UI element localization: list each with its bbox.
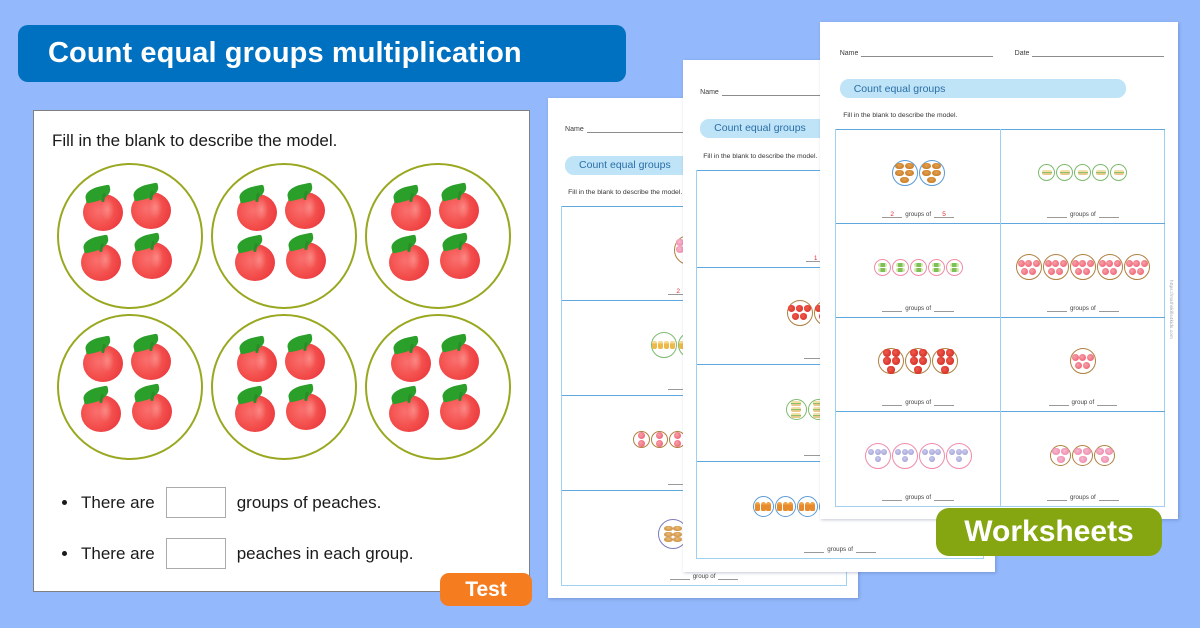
cup-icon bbox=[1079, 456, 1087, 463]
berry-icon bbox=[1072, 354, 1079, 361]
answer-blank-right[interactable] bbox=[718, 573, 738, 580]
mouse-icon bbox=[935, 449, 941, 455]
answer-label: group of bbox=[693, 573, 716, 580]
item-group-circle bbox=[1092, 164, 1109, 181]
answer-label: groups of bbox=[1070, 305, 1096, 312]
mouse-icon bbox=[868, 449, 874, 455]
mouse-icon bbox=[929, 456, 935, 462]
item-group-circle bbox=[1074, 164, 1091, 181]
pepper-icon bbox=[919, 349, 927, 357]
peach-icon bbox=[237, 187, 281, 231]
pie-icon bbox=[927, 177, 936, 183]
bottle-icon bbox=[761, 502, 766, 511]
cookie-icon bbox=[664, 526, 673, 531]
item-group-circle bbox=[919, 160, 945, 186]
berry-icon bbox=[1018, 260, 1025, 267]
worksheets-badge[interactable]: Worksheets bbox=[936, 508, 1162, 556]
pie-icon bbox=[905, 163, 914, 169]
cookie-icon bbox=[664, 537, 673, 542]
candy-icon bbox=[950, 268, 959, 272]
item-group-circle bbox=[1050, 445, 1071, 466]
pie-icon bbox=[905, 170, 914, 176]
answer-label: groups of bbox=[905, 494, 931, 501]
sheet-inner: Name Date Count equal groups Fill in the… bbox=[820, 22, 1178, 519]
pepper-icon bbox=[910, 349, 918, 357]
test-badge[interactable]: Test bbox=[440, 573, 532, 606]
mouse-icon bbox=[956, 456, 962, 462]
problem-answer-line: groups of bbox=[882, 494, 954, 503]
peach-icon bbox=[237, 338, 281, 382]
problem-illustration bbox=[1003, 417, 1162, 493]
answer-blank-left[interactable] bbox=[1047, 305, 1067, 312]
cup-icon bbox=[1074, 448, 1082, 455]
problem-illustration bbox=[838, 323, 998, 399]
test-badge-label: Test bbox=[465, 578, 507, 602]
cup-icon bbox=[1057, 456, 1065, 463]
worksheet-problem-cell: groups of bbox=[1001, 129, 1164, 223]
answer-blank-left[interactable] bbox=[804, 546, 824, 553]
sand-icon bbox=[1060, 170, 1070, 175]
item-group-circle bbox=[874, 259, 891, 276]
pepper-icon bbox=[937, 349, 945, 357]
worksheet-grid: 2groups of5groups ofgroups ofgroups of g… bbox=[835, 129, 1165, 507]
bottle-icon bbox=[777, 502, 782, 511]
pepper-icon bbox=[941, 366, 949, 374]
pie-icon bbox=[932, 163, 941, 169]
answer-blank-right[interactable] bbox=[1099, 305, 1119, 312]
item-group-circle bbox=[892, 259, 909, 276]
answer-suffix: peaches in each group. bbox=[237, 544, 414, 564]
item-group-circle bbox=[928, 259, 945, 276]
cookie-icon bbox=[673, 526, 682, 531]
mouse-icon bbox=[949, 449, 955, 455]
pepper-icon bbox=[883, 357, 891, 365]
peach-icon bbox=[235, 388, 279, 432]
item-group-circle bbox=[1097, 254, 1123, 280]
item-group-circle bbox=[1110, 164, 1127, 181]
bullet-icon bbox=[62, 500, 67, 505]
name-label: Name bbox=[565, 126, 584, 133]
peach-icon bbox=[286, 235, 330, 279]
item-group-circle bbox=[753, 496, 774, 517]
candy-icon bbox=[914, 263, 923, 267]
berry-icon bbox=[674, 440, 681, 447]
item-group-circle bbox=[1056, 164, 1073, 181]
problem-answer-line: groups of bbox=[882, 399, 954, 408]
item-group-circle bbox=[1072, 445, 1093, 466]
peach-icon bbox=[235, 237, 279, 281]
answer-blank-left[interactable] bbox=[670, 573, 690, 580]
candy-icon bbox=[950, 263, 959, 267]
answer-label: groups of bbox=[1070, 211, 1096, 218]
berry-icon bbox=[1129, 268, 1136, 275]
item-group-circle bbox=[787, 300, 813, 326]
mouse-icon bbox=[902, 456, 908, 462]
pepper-icon bbox=[914, 366, 922, 374]
berry-icon bbox=[1079, 354, 1086, 361]
answer-input-groups[interactable] bbox=[166, 487, 226, 518]
answer-blank-right[interactable] bbox=[934, 494, 954, 501]
cup-icon bbox=[1105, 448, 1113, 455]
answer-blank-right[interactable] bbox=[856, 546, 876, 553]
berry-icon bbox=[1021, 268, 1028, 275]
mouse-icon bbox=[922, 449, 928, 455]
group-circle bbox=[211, 314, 357, 460]
worksheet-column: groups ofgroups ofgroup ofgroups of bbox=[1000, 129, 1164, 506]
pie-icon bbox=[895, 163, 904, 169]
berry-icon bbox=[1099, 260, 1106, 267]
berry-icon bbox=[1126, 260, 1133, 267]
pie-icon bbox=[932, 170, 941, 176]
peach-icon bbox=[81, 237, 125, 281]
sand-icon bbox=[791, 413, 801, 418]
peach-icon bbox=[439, 185, 483, 229]
item-group-circle bbox=[651, 431, 668, 448]
pie-icon bbox=[895, 170, 904, 176]
answer-blank-right[interactable] bbox=[1097, 399, 1117, 406]
item-group-circle bbox=[786, 399, 807, 420]
pie-icon bbox=[922, 163, 931, 169]
worksheet-prompt: Fill in the blank to describe the model. bbox=[568, 189, 682, 196]
sand-icon bbox=[1096, 170, 1106, 175]
berry-icon bbox=[1075, 362, 1082, 369]
cookie-icon bbox=[673, 537, 682, 542]
apple-icon bbox=[800, 313, 807, 320]
item-group-circle bbox=[878, 348, 904, 374]
berry-icon bbox=[1141, 260, 1148, 267]
answer-prefix: There are bbox=[81, 493, 155, 513]
berry-icon bbox=[1114, 260, 1121, 267]
problem-answer-line: groups of bbox=[1047, 305, 1119, 314]
jar-icon bbox=[652, 341, 657, 349]
peach-icon bbox=[83, 187, 127, 231]
peach-icon bbox=[391, 338, 435, 382]
worksheet-watermark: https://mathskills4kids.com bbox=[1169, 280, 1174, 339]
apple-icon bbox=[792, 313, 799, 320]
answer-blank-left[interactable]: 2 bbox=[882, 211, 902, 218]
answer-row: There are peaches in each group. bbox=[62, 538, 502, 569]
group-circle bbox=[57, 163, 203, 309]
worksheet-header-text: Count equal groups bbox=[714, 122, 806, 134]
mouse-icon bbox=[895, 449, 901, 455]
berry-icon bbox=[638, 440, 645, 447]
berry-icon bbox=[1033, 260, 1040, 267]
name-line[interactable] bbox=[861, 48, 992, 57]
title-text: Count equal groups multiplication bbox=[48, 37, 522, 70]
apple-icon bbox=[788, 305, 795, 312]
peach-icon bbox=[131, 185, 175, 229]
answer-label: groups of bbox=[1070, 494, 1096, 501]
pepper-icon bbox=[919, 357, 927, 365]
mouse-icon bbox=[962, 449, 968, 455]
candy-icon bbox=[932, 263, 941, 267]
pepper-icon bbox=[892, 357, 900, 365]
peach-icon bbox=[83, 338, 127, 382]
sample-worksheet-card: Fill in the blank to describe the model.… bbox=[33, 110, 530, 592]
cookie-icon bbox=[673, 532, 682, 537]
problem-answer-line: group of bbox=[670, 573, 739, 582]
pepper-icon bbox=[910, 357, 918, 365]
jar-icon bbox=[670, 341, 675, 349]
peach-icon bbox=[389, 388, 433, 432]
berry-icon bbox=[1106, 260, 1113, 267]
sample-prompt: Fill in the blank to describe the model. bbox=[52, 131, 337, 151]
pie-icon bbox=[922, 170, 931, 176]
answer-prefix: There are bbox=[81, 544, 155, 564]
berry-icon bbox=[1079, 260, 1086, 267]
item-group-circle bbox=[946, 259, 963, 276]
pepper-icon bbox=[892, 349, 900, 357]
berry-icon bbox=[638, 432, 645, 439]
peach-icon bbox=[389, 237, 433, 281]
candy-icon bbox=[896, 268, 905, 272]
equal-groups-grid bbox=[57, 163, 512, 460]
peach-icon bbox=[391, 187, 435, 231]
berry-icon bbox=[674, 432, 681, 439]
cup-icon bbox=[1052, 448, 1060, 455]
berry-icon bbox=[1025, 260, 1032, 267]
worksheets-badge-label: Worksheets bbox=[964, 515, 1134, 549]
problem-answer-line: 2groups of5 bbox=[882, 211, 954, 220]
berry-icon bbox=[656, 432, 663, 439]
sand-icon bbox=[1078, 170, 1088, 175]
item-group-circle bbox=[892, 160, 918, 186]
worksheet-problem-cell: groups of bbox=[836, 317, 1000, 411]
apple-icon bbox=[804, 305, 811, 312]
worksheet-problem-cell: groups of bbox=[836, 411, 1000, 505]
berry-icon bbox=[1102, 268, 1109, 275]
peach-icon bbox=[132, 386, 176, 430]
answer-blank-left[interactable] bbox=[882, 305, 902, 312]
date-label: Date bbox=[1015, 50, 1030, 57]
bottle-icon bbox=[810, 502, 815, 511]
answer-input-per-group[interactable] bbox=[166, 538, 226, 569]
peach-icon bbox=[132, 235, 176, 279]
group-circle bbox=[211, 163, 357, 309]
item-group-circle bbox=[910, 259, 927, 276]
answer-blank-right[interactable]: 5 bbox=[934, 211, 954, 218]
answer-blank-left[interactable] bbox=[882, 399, 902, 406]
pepper-icon bbox=[946, 349, 954, 357]
answer-label: group of bbox=[1072, 399, 1095, 406]
worksheet-header-text: Count equal groups bbox=[854, 83, 946, 95]
candy-icon bbox=[914, 268, 923, 272]
sand-icon bbox=[1042, 170, 1052, 175]
item-group-circle bbox=[1016, 254, 1042, 280]
worksheet-problem-cell: groups of bbox=[1001, 223, 1164, 317]
berry-icon bbox=[1110, 268, 1117, 275]
bottle-icon bbox=[799, 502, 804, 511]
candy-icon bbox=[932, 268, 941, 272]
group-circle bbox=[365, 163, 511, 309]
cup-icon bbox=[1101, 456, 1109, 463]
bottle-icon bbox=[755, 502, 760, 511]
problem-illustration bbox=[838, 417, 998, 493]
problem-illustration bbox=[838, 229, 998, 305]
poster-stage: Count equal groups multiplication Name C… bbox=[0, 0, 1200, 628]
peach-icon bbox=[285, 185, 329, 229]
bottle-icon bbox=[788, 502, 793, 511]
berry-icon bbox=[1133, 260, 1140, 267]
item-group-circle bbox=[919, 443, 945, 469]
item-group-circle bbox=[865, 443, 891, 469]
answer-blank-right[interactable] bbox=[934, 305, 954, 312]
berry-icon bbox=[656, 440, 663, 447]
pepper-icon bbox=[883, 349, 891, 357]
cup-icon bbox=[1096, 448, 1104, 455]
answer-blank-right[interactable] bbox=[934, 399, 954, 406]
title-banner: Count equal groups multiplication bbox=[18, 25, 626, 82]
berry-icon bbox=[1060, 260, 1067, 267]
berry-icon bbox=[1083, 268, 1090, 275]
worksheet-sheet-front[interactable]: Name Date Count equal groups Fill in the… bbox=[820, 22, 1178, 519]
worksheet-prompt: Fill in the blank to describe the model. bbox=[843, 112, 957, 119]
name-label: Name bbox=[840, 50, 859, 57]
answer-label: groups of bbox=[905, 211, 931, 218]
mouse-icon bbox=[956, 449, 962, 455]
peach-icon bbox=[285, 336, 329, 380]
berry-icon bbox=[1052, 260, 1059, 267]
pie-icon bbox=[900, 177, 909, 183]
peach-icon bbox=[440, 386, 484, 430]
item-group-circle bbox=[1094, 445, 1115, 466]
item-group-circle bbox=[633, 431, 650, 448]
answer-label: groups of bbox=[905, 305, 931, 312]
item-group-circle bbox=[905, 348, 931, 374]
problem-answer-line: groups of bbox=[1047, 494, 1119, 503]
item-group-circle bbox=[892, 443, 918, 469]
bullet-icon bbox=[62, 551, 67, 556]
item-group-circle bbox=[932, 348, 958, 374]
problem-answer-line: groups of bbox=[1047, 211, 1119, 220]
answer-blank-left[interactable] bbox=[1047, 494, 1067, 501]
mouse-icon bbox=[908, 449, 914, 455]
group-circle bbox=[365, 314, 511, 460]
candy-icon bbox=[896, 263, 905, 267]
berry-icon bbox=[1072, 260, 1079, 267]
mouse-icon bbox=[881, 449, 887, 455]
answer-blank-left[interactable] bbox=[1049, 399, 1069, 406]
answer-blank-left[interactable] bbox=[1047, 211, 1067, 218]
item-group-circle bbox=[946, 443, 972, 469]
name-label: Name bbox=[700, 89, 719, 96]
berry-icon bbox=[1029, 268, 1036, 275]
bottle-icon bbox=[783, 502, 788, 511]
item-group-circle bbox=[1124, 254, 1150, 280]
mouse-icon bbox=[875, 449, 881, 455]
berry-icon bbox=[1083, 362, 1090, 369]
item-group-circle bbox=[651, 332, 677, 358]
pepper-icon bbox=[937, 357, 945, 365]
bottle-icon bbox=[805, 502, 810, 511]
apple-icon bbox=[796, 305, 803, 312]
peach-icon bbox=[286, 386, 330, 430]
problem-illustration bbox=[1003, 323, 1162, 399]
berry-icon bbox=[1048, 268, 1055, 275]
problem-answer-line: groups of bbox=[882, 305, 954, 314]
pepper-icon bbox=[946, 357, 954, 365]
candy-icon bbox=[878, 268, 887, 272]
berry-icon bbox=[1056, 268, 1063, 275]
answer-row: There are groups of peaches. bbox=[62, 487, 502, 518]
answer-suffix: groups of peaches. bbox=[237, 493, 382, 513]
berry-icon bbox=[1045, 260, 1052, 267]
answer-label: groups of bbox=[827, 546, 853, 553]
jar-icon bbox=[664, 341, 669, 349]
cookie-icon bbox=[664, 532, 673, 537]
peach-icon bbox=[81, 388, 125, 432]
item-group-circle bbox=[1038, 164, 1055, 181]
problem-answer-line: groups of bbox=[804, 546, 876, 555]
berry-icon bbox=[1087, 354, 1094, 361]
answer-list: There are groups of peaches. There are p… bbox=[62, 487, 502, 569]
group-circle bbox=[57, 314, 203, 460]
answer-blank-right[interactable] bbox=[1099, 494, 1119, 501]
name-date-row: Name Date bbox=[840, 48, 1164, 57]
cup-icon bbox=[1083, 448, 1091, 455]
problem-answer-line: group of bbox=[1049, 399, 1118, 408]
answer-label: groups of bbox=[905, 399, 931, 406]
pepper-icon bbox=[887, 366, 895, 374]
mouse-icon bbox=[875, 456, 881, 462]
answer-blank-left[interactable] bbox=[882, 494, 902, 501]
answer-blank-right[interactable] bbox=[1099, 211, 1119, 218]
peach-icon bbox=[131, 336, 175, 380]
worksheet-prompt: Fill in the blank to describe the model. bbox=[703, 153, 817, 160]
item-group-circle bbox=[1043, 254, 1069, 280]
jar-icon bbox=[658, 341, 663, 349]
candy-icon bbox=[878, 263, 887, 267]
worksheet-header-text: Count equal groups bbox=[579, 159, 671, 171]
problem-illustration bbox=[838, 135, 998, 211]
mouse-icon bbox=[929, 449, 935, 455]
berry-icon bbox=[1137, 268, 1144, 275]
item-group-circle bbox=[775, 496, 796, 517]
peach-icon bbox=[440, 235, 484, 279]
problem-illustration bbox=[1003, 229, 1162, 305]
item-group-circle bbox=[1070, 348, 1096, 374]
berry-icon bbox=[1075, 268, 1082, 275]
problem-illustration bbox=[1003, 135, 1162, 211]
peach-icon bbox=[439, 336, 483, 380]
date-line[interactable] bbox=[1032, 48, 1163, 57]
worksheet-problem-cell: groups of bbox=[836, 223, 1000, 317]
sand-icon bbox=[1114, 170, 1124, 175]
berry-icon bbox=[1087, 260, 1094, 267]
bottle-icon bbox=[766, 502, 771, 511]
worksheet-problem-cell: 2groups of5 bbox=[836, 129, 1000, 223]
worksheet-problem-cell: group of bbox=[1001, 317, 1164, 411]
cup-icon bbox=[1061, 448, 1069, 455]
sand-icon bbox=[791, 407, 801, 412]
item-group-circle bbox=[1070, 254, 1096, 280]
worksheet-problem-cell: groups of bbox=[1001, 411, 1164, 505]
worksheet-column: 2groups of5groups ofgroups ofgroups of bbox=[836, 129, 1000, 506]
mouse-icon bbox=[902, 449, 908, 455]
worksheet-header-pill: Count equal groups bbox=[840, 79, 1126, 98]
sand-icon bbox=[791, 401, 801, 406]
item-group-circle bbox=[797, 496, 818, 517]
